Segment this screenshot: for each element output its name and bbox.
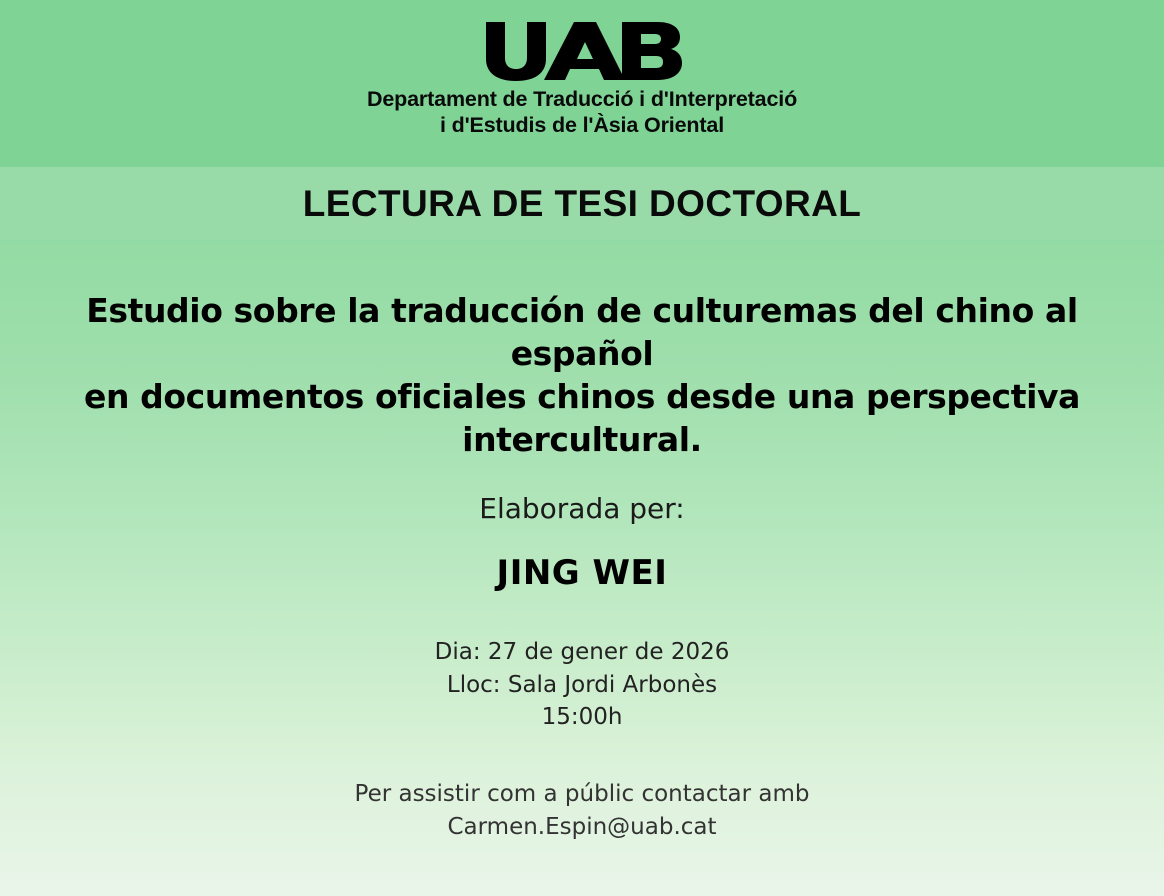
author-name: JING WEI [0, 553, 1164, 594]
department-name: Departament de Traducció i d'Interpretac… [0, 86, 1164, 138]
header-block: Departament de Traducció i d'Interpretac… [0, 0, 1164, 167]
event-place: Lloc: Sala Jordi Arbonès [0, 669, 1164, 702]
event-date: Dia: 27 de gener de 2026 [0, 636, 1164, 669]
thesis-title-line-3: intercultural. [12, 419, 1152, 462]
section-heading: LECTURA DE TESI DOCTORAL [0, 183, 1164, 225]
thesis-title: Estudio sobre la traducción de culturema… [0, 290, 1164, 462]
uab-logo [0, 20, 1164, 82]
elaborated-by-label: Elaborada per: [0, 492, 1164, 526]
contact-email[interactable]: Carmen.Espin@uab.cat [0, 811, 1164, 844]
poster-root: Departament de Traducció i d'Interpretac… [0, 0, 1164, 896]
department-line-1: Departament de Traducció i d'Interpretac… [0, 86, 1164, 112]
event-details: Dia: 27 de gener de 2026 Lloc: Sala Jord… [0, 636, 1164, 734]
contact-block: Per assistir com a públic contactar amb … [0, 778, 1164, 843]
thesis-title-line-1: Estudio sobre la traducción de culturema… [12, 290, 1152, 376]
thesis-title-line-2: en documentos oficiales chinos desde una… [12, 376, 1152, 419]
event-time: 15:00h [0, 701, 1164, 734]
uab-logo-icon [482, 20, 682, 82]
main-content: Estudio sobre la traducción de culturema… [0, 240, 1164, 843]
department-line-2: i d'Estudis de l'Àsia Oriental [0, 112, 1164, 138]
contact-instruction: Per assistir com a públic contactar amb [0, 778, 1164, 811]
